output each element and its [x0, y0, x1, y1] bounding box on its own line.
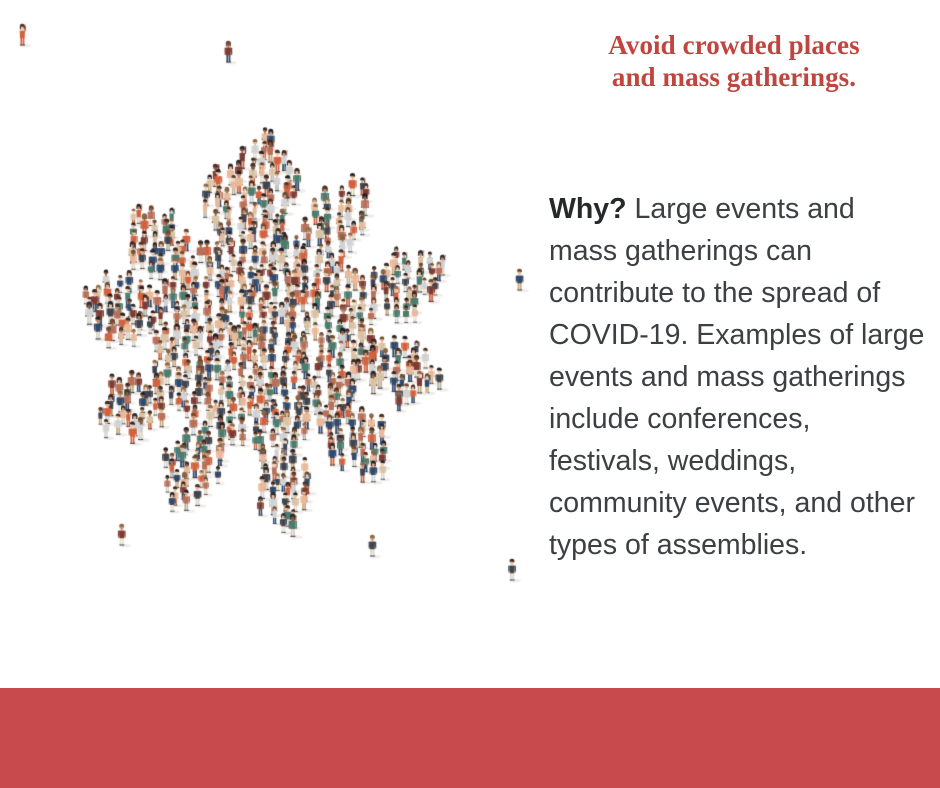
crowd-coronavirus-illustration [0, 0, 540, 660]
headline-line-1: Avoid crowded places [548, 30, 920, 62]
why-label: Why? [549, 193, 627, 225]
page-title: Avoid crowded places and mass gatherings… [548, 30, 920, 94]
crowd-canvas [0, 0, 540, 660]
body-text: Large events and mass gatherings can con… [549, 193, 924, 561]
covid-awareness-poster: Avoid crowded places and mass gatherings… [0, 0, 940, 788]
footer-bar: World Health Organization Timor-Leste US… [0, 688, 940, 788]
headline-line-2: and mass gatherings. [548, 62, 920, 94]
body-copy: Why? Large events and mass gatherings ca… [549, 188, 929, 566]
